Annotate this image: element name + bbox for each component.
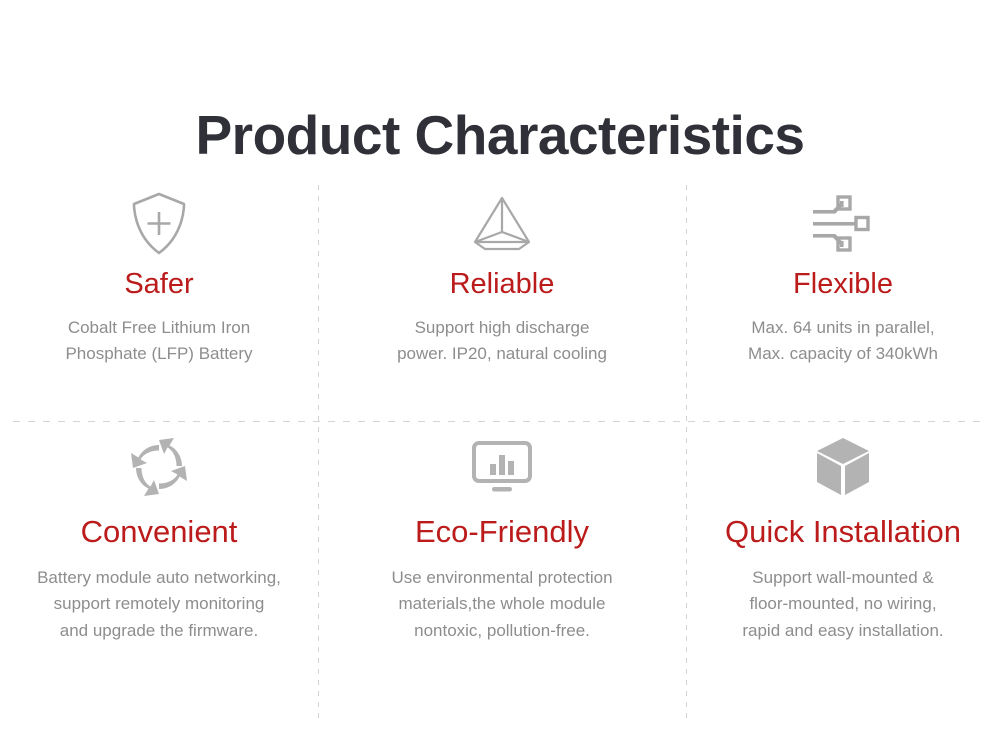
feature-description: Use environmental protection materials,t… [318,565,686,644]
feature-title: Reliable [318,269,686,301]
feature-title: Eco-Friendly [318,515,686,549]
feature-description: Support wall-mounted & floor-mounted, no… [686,565,1000,644]
feature-title: Flexible [686,269,1000,301]
shield-plus-icon [0,185,318,263]
feature-card-convenient: Convenient Battery module auto networkin… [0,421,318,719]
pyramid-wireframe-icon [318,185,686,263]
feature-title: Convenient [0,515,318,549]
feature-title: Safer [0,269,318,301]
recycle-arrows-icon [0,421,318,513]
features-grid: Safer Cobalt Free Lithium Iron Phosphate… [0,185,1000,719]
feature-description: Cobalt Free Lithium Iron Phosphate (LFP)… [0,315,318,368]
feature-card-quick-installation: Quick Installation Support wall-mounted … [686,421,1000,719]
feature-description: Battery module auto networking, support … [0,565,318,644]
feature-description: Max. 64 units in parallel, Max. capacity… [686,315,1000,368]
feature-card-eco-friendly: Eco-Friendly Use environmental protectio… [318,421,686,719]
feature-title: Quick Installation [686,515,1000,549]
monitor-bar-chart-icon [318,421,686,513]
circuit-branch-icon [686,185,1000,263]
feature-description: Support high discharge power. IP20, natu… [318,315,686,368]
product-characteristics-page: Product Characteristics Safer Cobalt Fre… [0,0,1000,730]
feature-card-flexible: Flexible Max. 64 units in parallel, Max.… [686,185,1000,421]
feature-card-safer: Safer Cobalt Free Lithium Iron Phosphate… [0,185,318,421]
page-title: Product Characteristics [0,105,1000,166]
feature-card-reliable: Reliable Support high discharge power. I… [318,185,686,421]
cube-box-icon [686,421,1000,513]
